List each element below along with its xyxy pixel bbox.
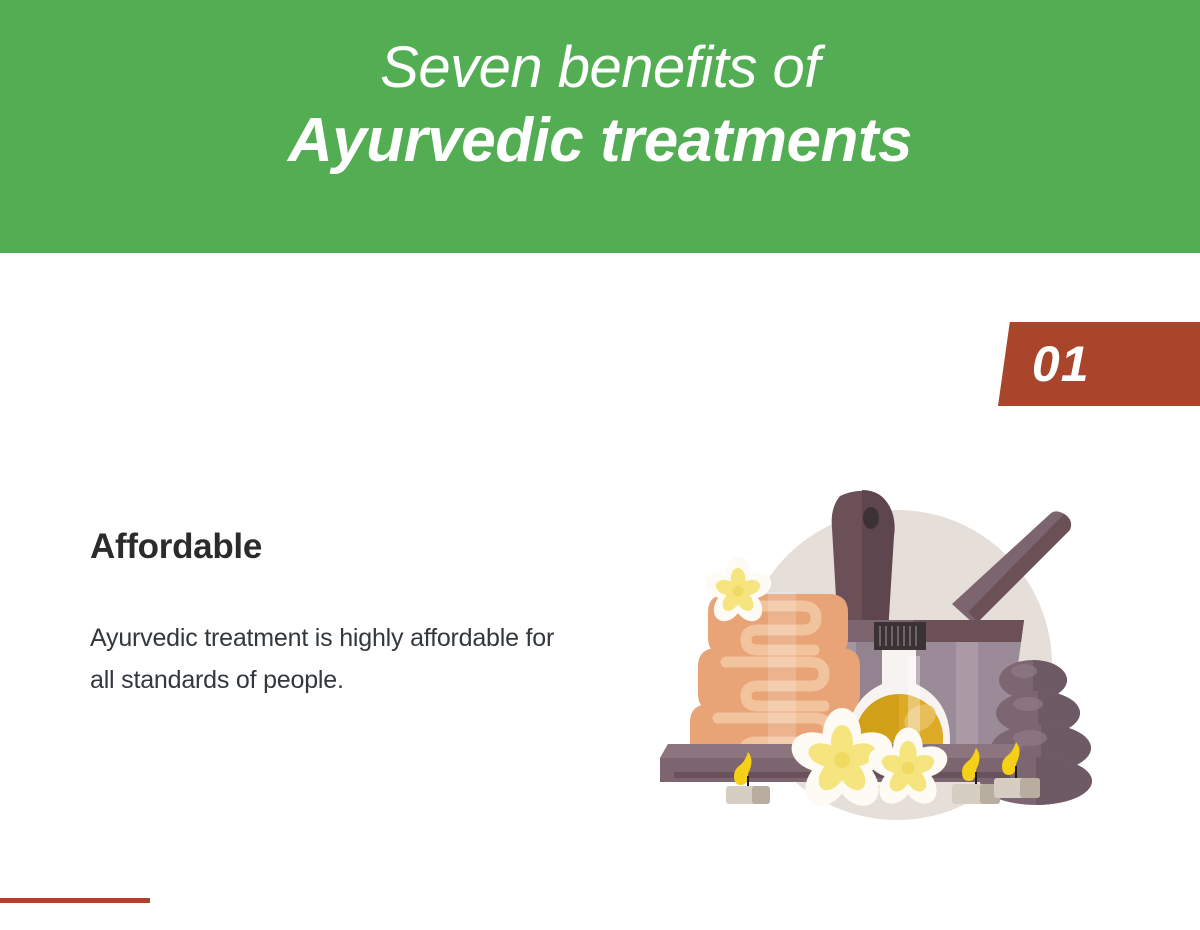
infographic-slide: Seven benefits of Ayurvedic treatments 0… — [0, 0, 1200, 930]
bottom-accent-rule — [0, 898, 150, 903]
page-title-line-2: Ayurvedic treatments — [0, 104, 1200, 177]
step-number-label: 01 — [1004, 322, 1200, 406]
spa-illustration — [660, 460, 1100, 820]
step-number-badge: 01 — [998, 322, 1200, 406]
benefit-heading: Affordable — [90, 528, 570, 567]
page-title: Seven benefits of Ayurvedic treatments — [0, 34, 1200, 178]
page-title-line-1: Seven benefits of — [0, 34, 1200, 102]
header-band: Seven benefits of Ayurvedic treatments — [0, 0, 1200, 253]
benefit-text-block: Affordable Ayurvedic treatment is highly… — [90, 528, 570, 701]
benefit-description: Ayurvedic treatment is highly affordable… — [90, 567, 570, 701]
